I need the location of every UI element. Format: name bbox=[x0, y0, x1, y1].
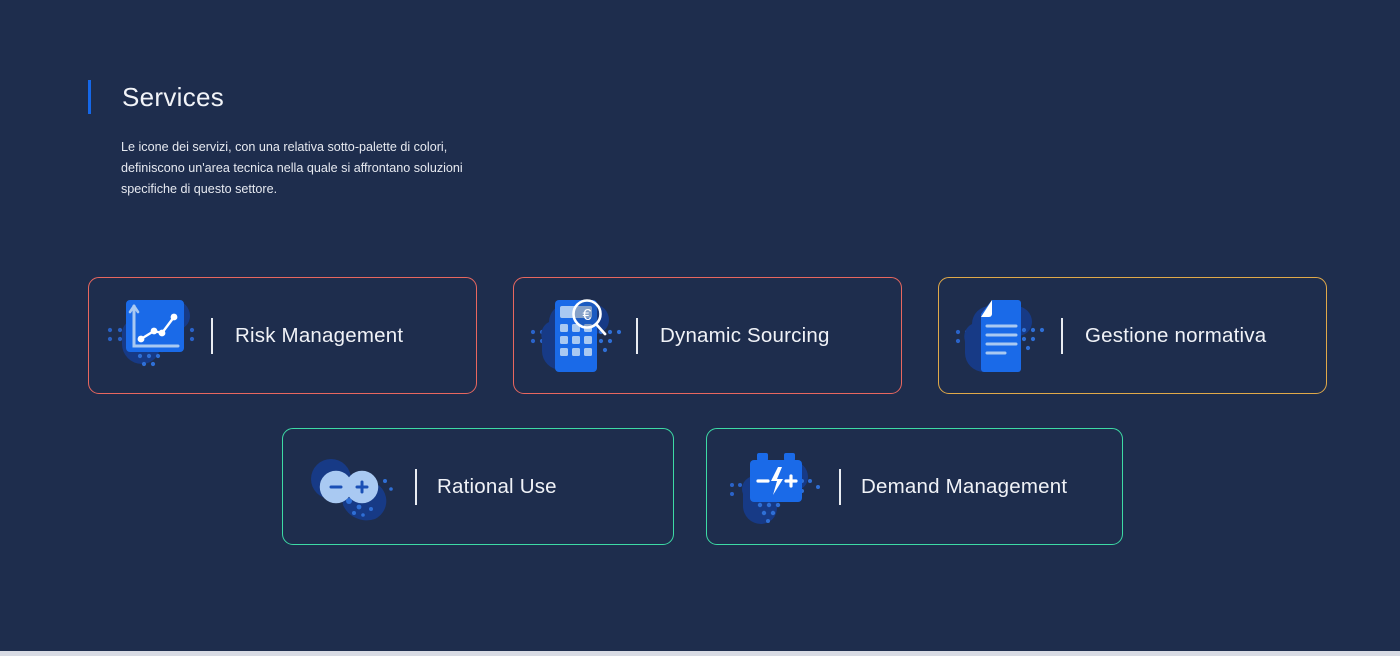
services-row-1: Risk Management bbox=[88, 277, 1327, 394]
service-card-demand-management[interactable]: Demand Management bbox=[706, 428, 1123, 545]
service-card-rational-use[interactable]: Rational Use bbox=[282, 428, 674, 545]
intro-line-3: specifiche di questo settore. bbox=[121, 179, 493, 200]
bottom-strip bbox=[0, 651, 1400, 656]
page-header: Services Le icone dei servizi, con una r… bbox=[88, 76, 608, 200]
calculator-euro-search-icon: € bbox=[518, 286, 636, 386]
service-card-gestione-normativa[interactable]: Gestione normativa bbox=[938, 277, 1327, 394]
service-label: Demand Management bbox=[861, 475, 1067, 499]
title-row: Services bbox=[88, 76, 608, 118]
card-divider bbox=[211, 318, 213, 354]
intro-line-2: definiscono un'area tecnica nella quale … bbox=[121, 158, 493, 179]
svg-text:€: € bbox=[583, 307, 592, 324]
card-divider bbox=[1061, 318, 1063, 354]
services-page: Services Le icone dei servizi, con una r… bbox=[0, 0, 1400, 656]
service-label: Rational Use bbox=[437, 475, 557, 499]
intro-line-1: Le icone dei servizi, con una relativa s… bbox=[121, 137, 493, 158]
battery-bolt-icon bbox=[721, 437, 839, 537]
card-divider bbox=[636, 318, 638, 354]
line-chart-icon bbox=[93, 286, 211, 386]
page-title: Services bbox=[122, 82, 224, 113]
service-label: Dynamic Sourcing bbox=[660, 324, 830, 348]
intro-paragraph: Le icone dei servizi, con una relativa s… bbox=[121, 137, 493, 200]
card-divider bbox=[839, 469, 841, 505]
title-accent-bar bbox=[88, 80, 91, 114]
service-label: Risk Management bbox=[235, 324, 403, 348]
services-row-2: Rational Use bbox=[282, 428, 1123, 545]
card-divider bbox=[415, 469, 417, 505]
document-icon bbox=[943, 286, 1061, 386]
service-card-risk-management[interactable]: Risk Management bbox=[88, 277, 477, 394]
service-card-dynamic-sourcing[interactable]: € Dynamic Sourcing bbox=[513, 277, 902, 394]
infinity-plus-minus-icon bbox=[297, 437, 415, 537]
service-label: Gestione normativa bbox=[1085, 324, 1266, 348]
